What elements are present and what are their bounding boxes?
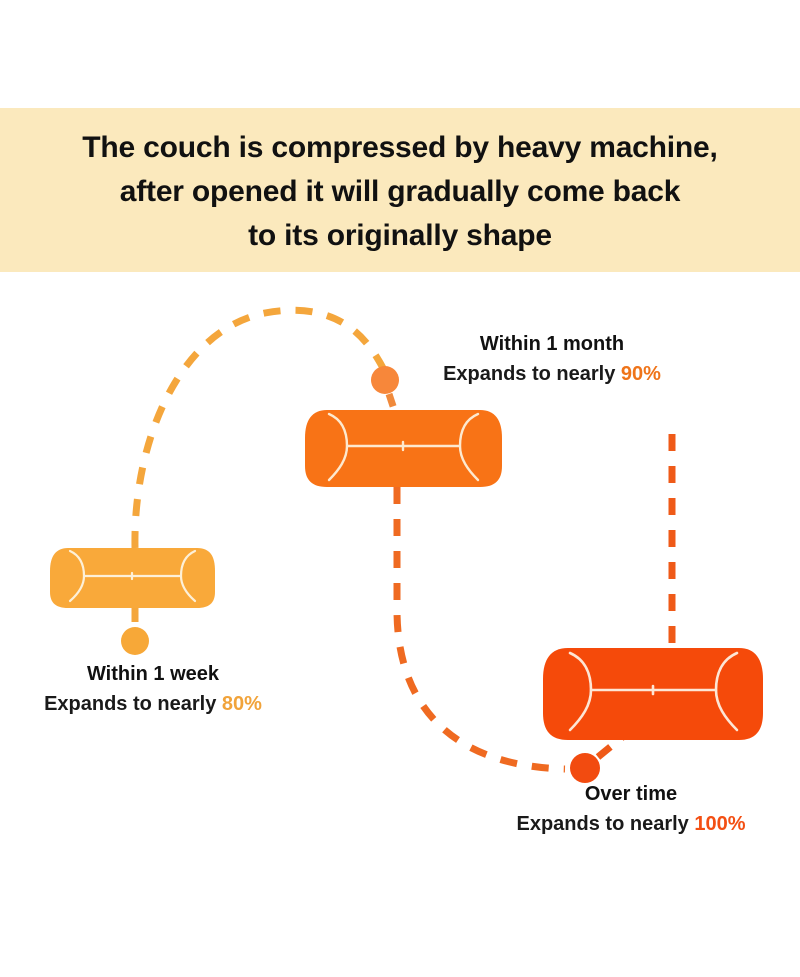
caption-title-over-time: Over time [462, 782, 800, 808]
caption-subtitle-within-1-month: Expands to nearly 90% [398, 362, 706, 388]
caption-title-within-1-month: Within 1 month [398, 332, 706, 358]
caption-over-time: Over time Expands to nearly 100% [462, 782, 800, 837]
infographic-canvas: The couch is compressed by heavy machine… [0, 0, 800, 977]
marker-dot-within-1-month [371, 366, 399, 394]
marker-dot-over-time [570, 753, 600, 783]
caption-within-1-month: Within 1 month Expands to nearly 90% [398, 332, 706, 387]
caption-subtitle-over-time: Expands to nearly 100% [462, 812, 800, 838]
dot2-to-couch2-connector [389, 394, 395, 412]
caption-percent-over-time: 100% [694, 813, 745, 835]
caption-subtitle-prefix-within-1-month: Expands to nearly [443, 363, 621, 385]
caption-title-within-1-week: Within 1 week [0, 662, 306, 688]
arc-month-to-over-connector [397, 487, 565, 769]
caption-percent-within-1-month: 90% [621, 363, 661, 385]
marker-dot-within-1-week [121, 627, 149, 655]
caption-percent-within-1-week: 80% [222, 693, 262, 715]
caption-subtitle-within-1-week: Expands to nearly 80% [0, 692, 306, 718]
couch-over-time [543, 648, 763, 740]
caption-subtitle-prefix-within-1-week: Expands to nearly [44, 693, 222, 715]
couch-within-1-week [50, 548, 215, 608]
caption-subtitle-prefix-over-time: Expands to nearly [517, 813, 695, 835]
caption-within-1-week: Within 1 week Expands to nearly 80% [0, 662, 306, 717]
couch-within-1-month [305, 410, 502, 487]
